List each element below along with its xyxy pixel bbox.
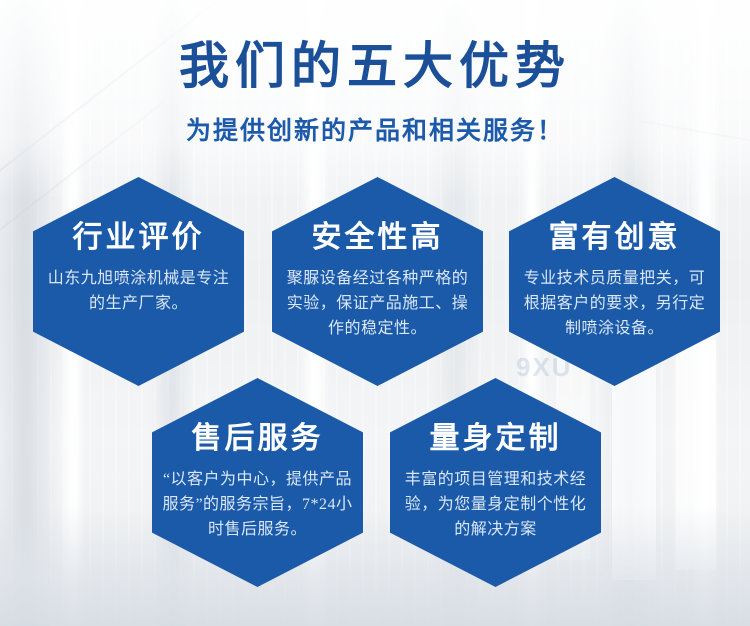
header-block: 我们的五大优势 为提供创新的产品和相关服务！ [0,40,750,147]
advantage-card-title: 行业评价 [73,223,205,253]
advantage-card-title: 富有创意 [549,223,681,253]
page-subtitle: 为提供创新的产品和相关服务！ [0,111,750,147]
advantage-card-after-sales-service[interactable]: 售后服务 “以客户为中心，提供产品服务”的服务宗旨，7*24小时售后服务。 [152,378,363,587]
advantage-card-title: 售后服务 [192,424,324,454]
advantage-card-body: 聚脲设备经过各种严格的实验，保证产品施工、操作的稳定性。 [280,267,476,341]
advantage-card-creative[interactable]: 富有创意 专业技术员质量把关，可根据客户的要求，另行定制喷涂设备。 [509,177,720,386]
advantage-card-body: 丰富的项目管理和技术经验，为您量身定制个性化的解决方案 [398,468,594,542]
advantage-card-title: 安全性高 [312,223,444,253]
advantage-card-body: 山东九旭喷涂机械是专注的生产厂家。 [44,267,234,317]
advantage-card-title: 量身定制 [430,424,562,454]
advantage-card-body: 专业技术员质量把关，可根据客户的要求，另行定制喷涂设备。 [517,267,713,341]
page-title: 我们的五大优势 [0,40,750,93]
advantage-card-high-safety[interactable]: 安全性高 聚脲设备经过各种严格的实验，保证产品施工、操作的稳定性。 [272,177,483,386]
advantage-card-body: “以客户为中心，提供产品服务”的服务宗旨，7*24小时售后服务。 [160,468,356,542]
advantage-card-industry-review[interactable]: 行业评价 山东九旭喷涂机械是专注的生产厂家。 [33,177,244,386]
advantages-banner: 9XU 我们的五大优势 为提供创新的产品和相关服务！ 行业评价 山东九旭喷涂机械… [0,0,750,626]
advantage-card-tailor-made[interactable]: 量身定制 丰富的项目管理和技术经验，为您量身定制个性化的解决方案 [390,378,601,587]
